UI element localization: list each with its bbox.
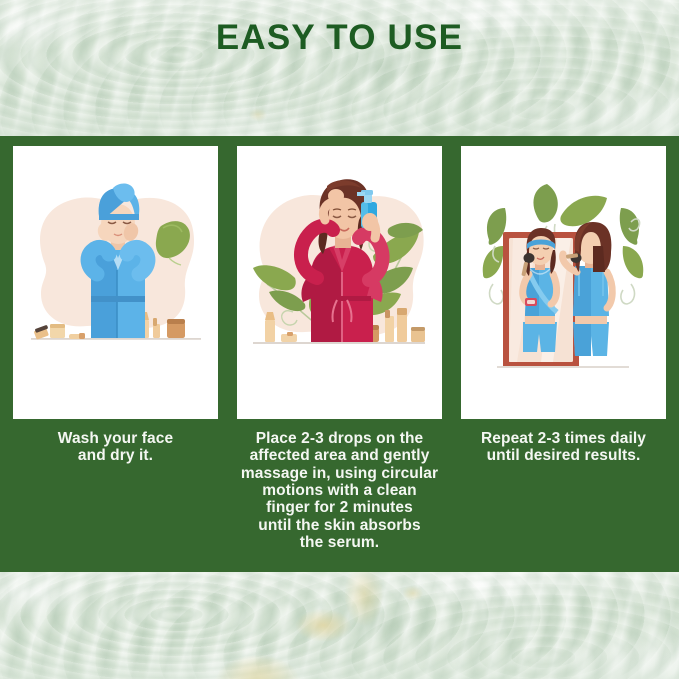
page-title: EASY TO USE (0, 18, 679, 58)
step-3: Repeat 2-3 times dailyuntil desired resu… (461, 146, 666, 552)
step-3-caption: Repeat 2-3 times dailyuntil desired resu… (461, 430, 666, 465)
step-3-illustration (461, 146, 666, 419)
footer-marble-background (0, 572, 679, 679)
mirror-reflection-figure (521, 228, 557, 352)
marble-vignette (0, 572, 679, 679)
steps-band: Wash your faceand dry it. (0, 136, 679, 572)
steps-list: Wash your faceand dry it. (0, 136, 679, 552)
cosmetic-items-left (34, 324, 85, 340)
step-2-caption: Place 2-3 drops on theaffected area and … (237, 430, 442, 552)
step-2-illustration (237, 146, 442, 419)
hair-towel (99, 184, 140, 221)
easy-to-use-infographic: EASY TO USE (0, 0, 679, 679)
leaf-cluster-right (620, 208, 644, 304)
step-2: Place 2-3 drops on theaffected area and … (237, 146, 442, 552)
step-3-card (461, 146, 666, 419)
step-1-caption: Wash your faceand dry it. (13, 430, 218, 465)
step-1-card (13, 146, 218, 419)
leaf-cluster-left (483, 208, 507, 304)
step-1-illustration (13, 146, 218, 419)
step-2-card (237, 146, 442, 419)
step-1: Wash your faceand dry it. (13, 146, 218, 552)
